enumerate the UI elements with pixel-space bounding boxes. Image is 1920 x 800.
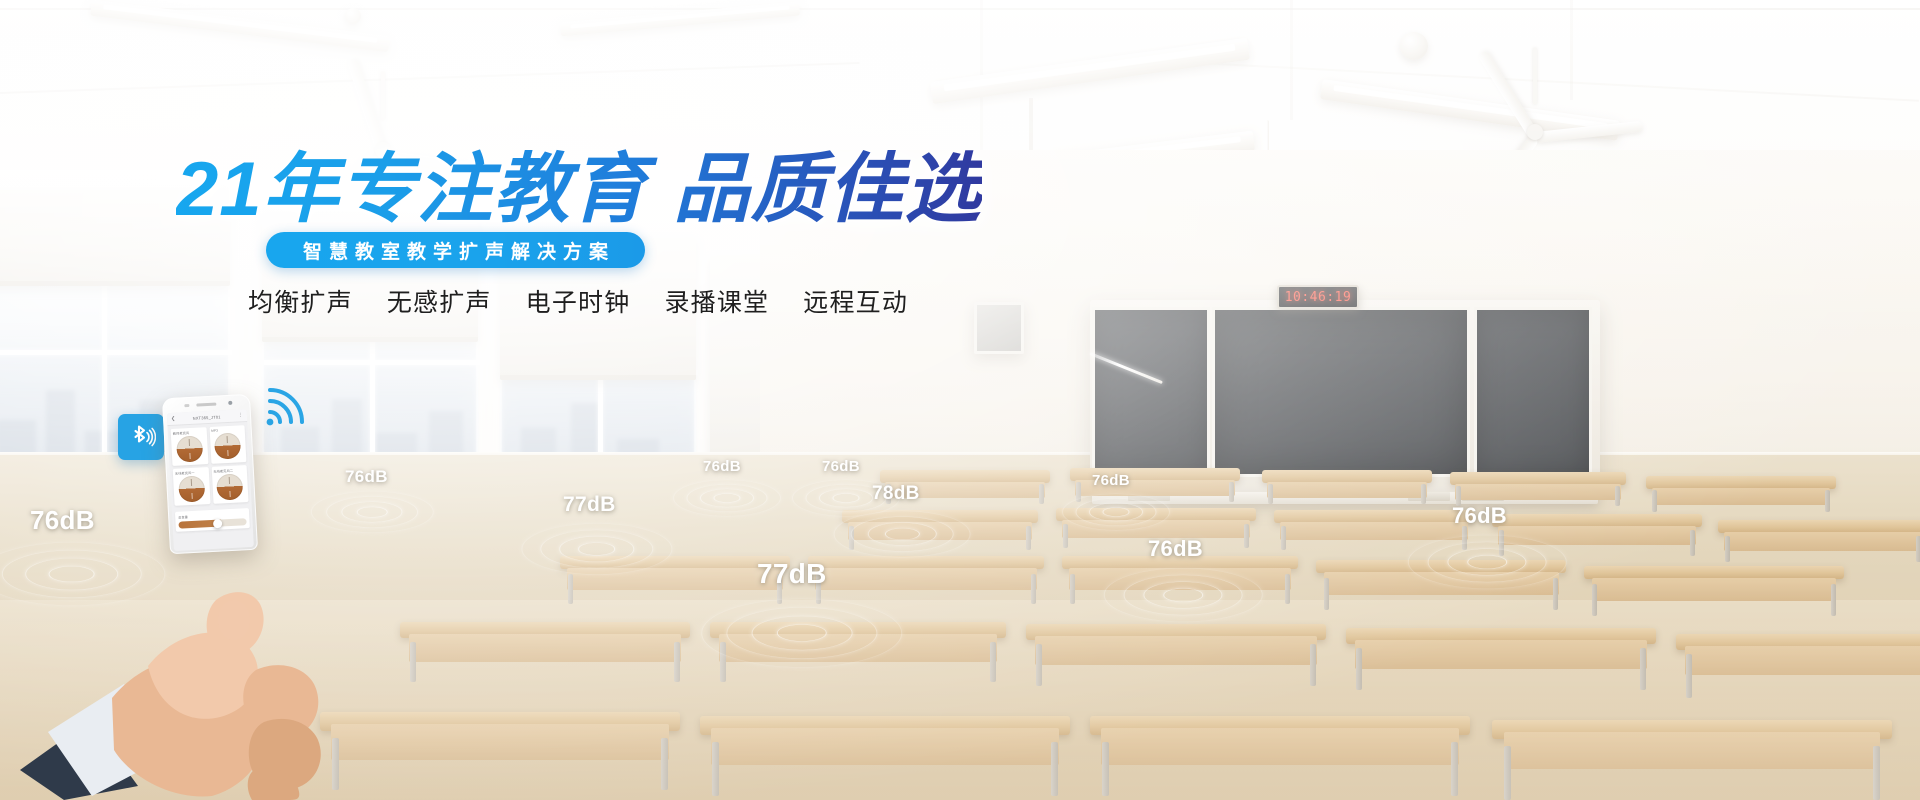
desk	[710, 622, 1006, 682]
phone-sensor	[184, 404, 189, 407]
desk	[1062, 556, 1298, 604]
desk	[1492, 514, 1702, 556]
volume-knob[interactable]	[214, 432, 241, 459]
headline-main: 21年专注教育	[176, 147, 648, 232]
ceiling-sensor	[345, 8, 361, 24]
blackboard	[1090, 300, 1600, 495]
feature-list: 均衡扩声 无感扩声 电子时钟 录播课堂 远程互动	[248, 283, 908, 319]
desk	[1346, 628, 1656, 690]
ceiling-line	[1290, 0, 1293, 120]
fan-blade	[1534, 121, 1643, 143]
ceiling-line	[0, 8, 1920, 10]
feature-item-3: 录播课堂	[664, 283, 769, 319]
ceiling-sensor	[1400, 32, 1428, 60]
feature-item-0: 均衡扩声	[248, 283, 353, 319]
desk	[1718, 520, 1920, 562]
more-vertical-icon[interactable]: ⋮	[238, 413, 243, 418]
desk	[1584, 566, 1844, 616]
ceiling-line	[1570, 0, 1573, 100]
db-label: 76dB	[1148, 536, 1203, 562]
db-label: 76dB	[703, 458, 741, 475]
feature-item-1: 无感扩声	[387, 283, 492, 319]
clock-time: 10:46:19	[1285, 290, 1352, 305]
fan-rod	[381, 72, 385, 120]
feature-item-2: 电子时钟	[526, 283, 631, 319]
page-title: 21年专注教育品质佳选	[176, 148, 982, 232]
desk	[700, 716, 1070, 796]
bluetooth-icon	[118, 414, 164, 460]
desk	[808, 556, 1044, 604]
desk	[1090, 716, 1470, 796]
desk	[1676, 634, 1920, 698]
db-label: 77dB	[757, 558, 827, 590]
electronic-clock: 10:46:19	[1277, 285, 1359, 309]
wall-panel	[974, 302, 1024, 354]
feature-item-4: 远程互动	[803, 283, 908, 319]
db-label: 76dB	[822, 458, 860, 475]
db-label: 77dB	[563, 493, 616, 517]
desk	[842, 510, 1038, 550]
phone-earpiece	[196, 403, 216, 407]
app-title: NXT365_JT01	[192, 414, 220, 420]
chevron-left-icon[interactable]: ❮	[171, 416, 175, 421]
desk	[400, 622, 690, 682]
desk	[1316, 560, 1566, 610]
db-label: 76dB	[1452, 503, 1507, 529]
desk	[560, 556, 790, 604]
blackboard-wing-left	[1092, 307, 1210, 477]
fan-hub	[1527, 124, 1543, 140]
desk	[1492, 720, 1892, 800]
blackboard-wing-right	[1474, 307, 1592, 477]
blackboard-center	[1212, 307, 1470, 477]
desk	[1646, 476, 1836, 512]
fan-rod	[1533, 48, 1537, 104]
db-label: 78dB	[872, 483, 920, 505]
desk	[1026, 624, 1326, 686]
channel-tile[interactable]: 教师麦克风	[171, 427, 208, 466]
desk	[1274, 510, 1474, 550]
volume-knob[interactable]	[176, 435, 203, 462]
headline-sub: 品质佳选	[674, 147, 982, 232]
desk	[1262, 470, 1432, 504]
db-label: 76dB	[1092, 472, 1130, 489]
wifi-waves-icon	[262, 380, 320, 428]
subtitle-pill-label: 智慧教室教学扩声解决方案	[296, 237, 615, 264]
phone-front-camera	[228, 401, 232, 405]
subtitle-pill: 智慧教室教学扩声解决方案	[266, 232, 645, 268]
channel-tile[interactable]: MP3	[209, 425, 246, 464]
channel-label: 教师麦克风	[173, 429, 205, 436]
hand-holding-phone	[20, 470, 420, 800]
desk	[1450, 472, 1626, 506]
